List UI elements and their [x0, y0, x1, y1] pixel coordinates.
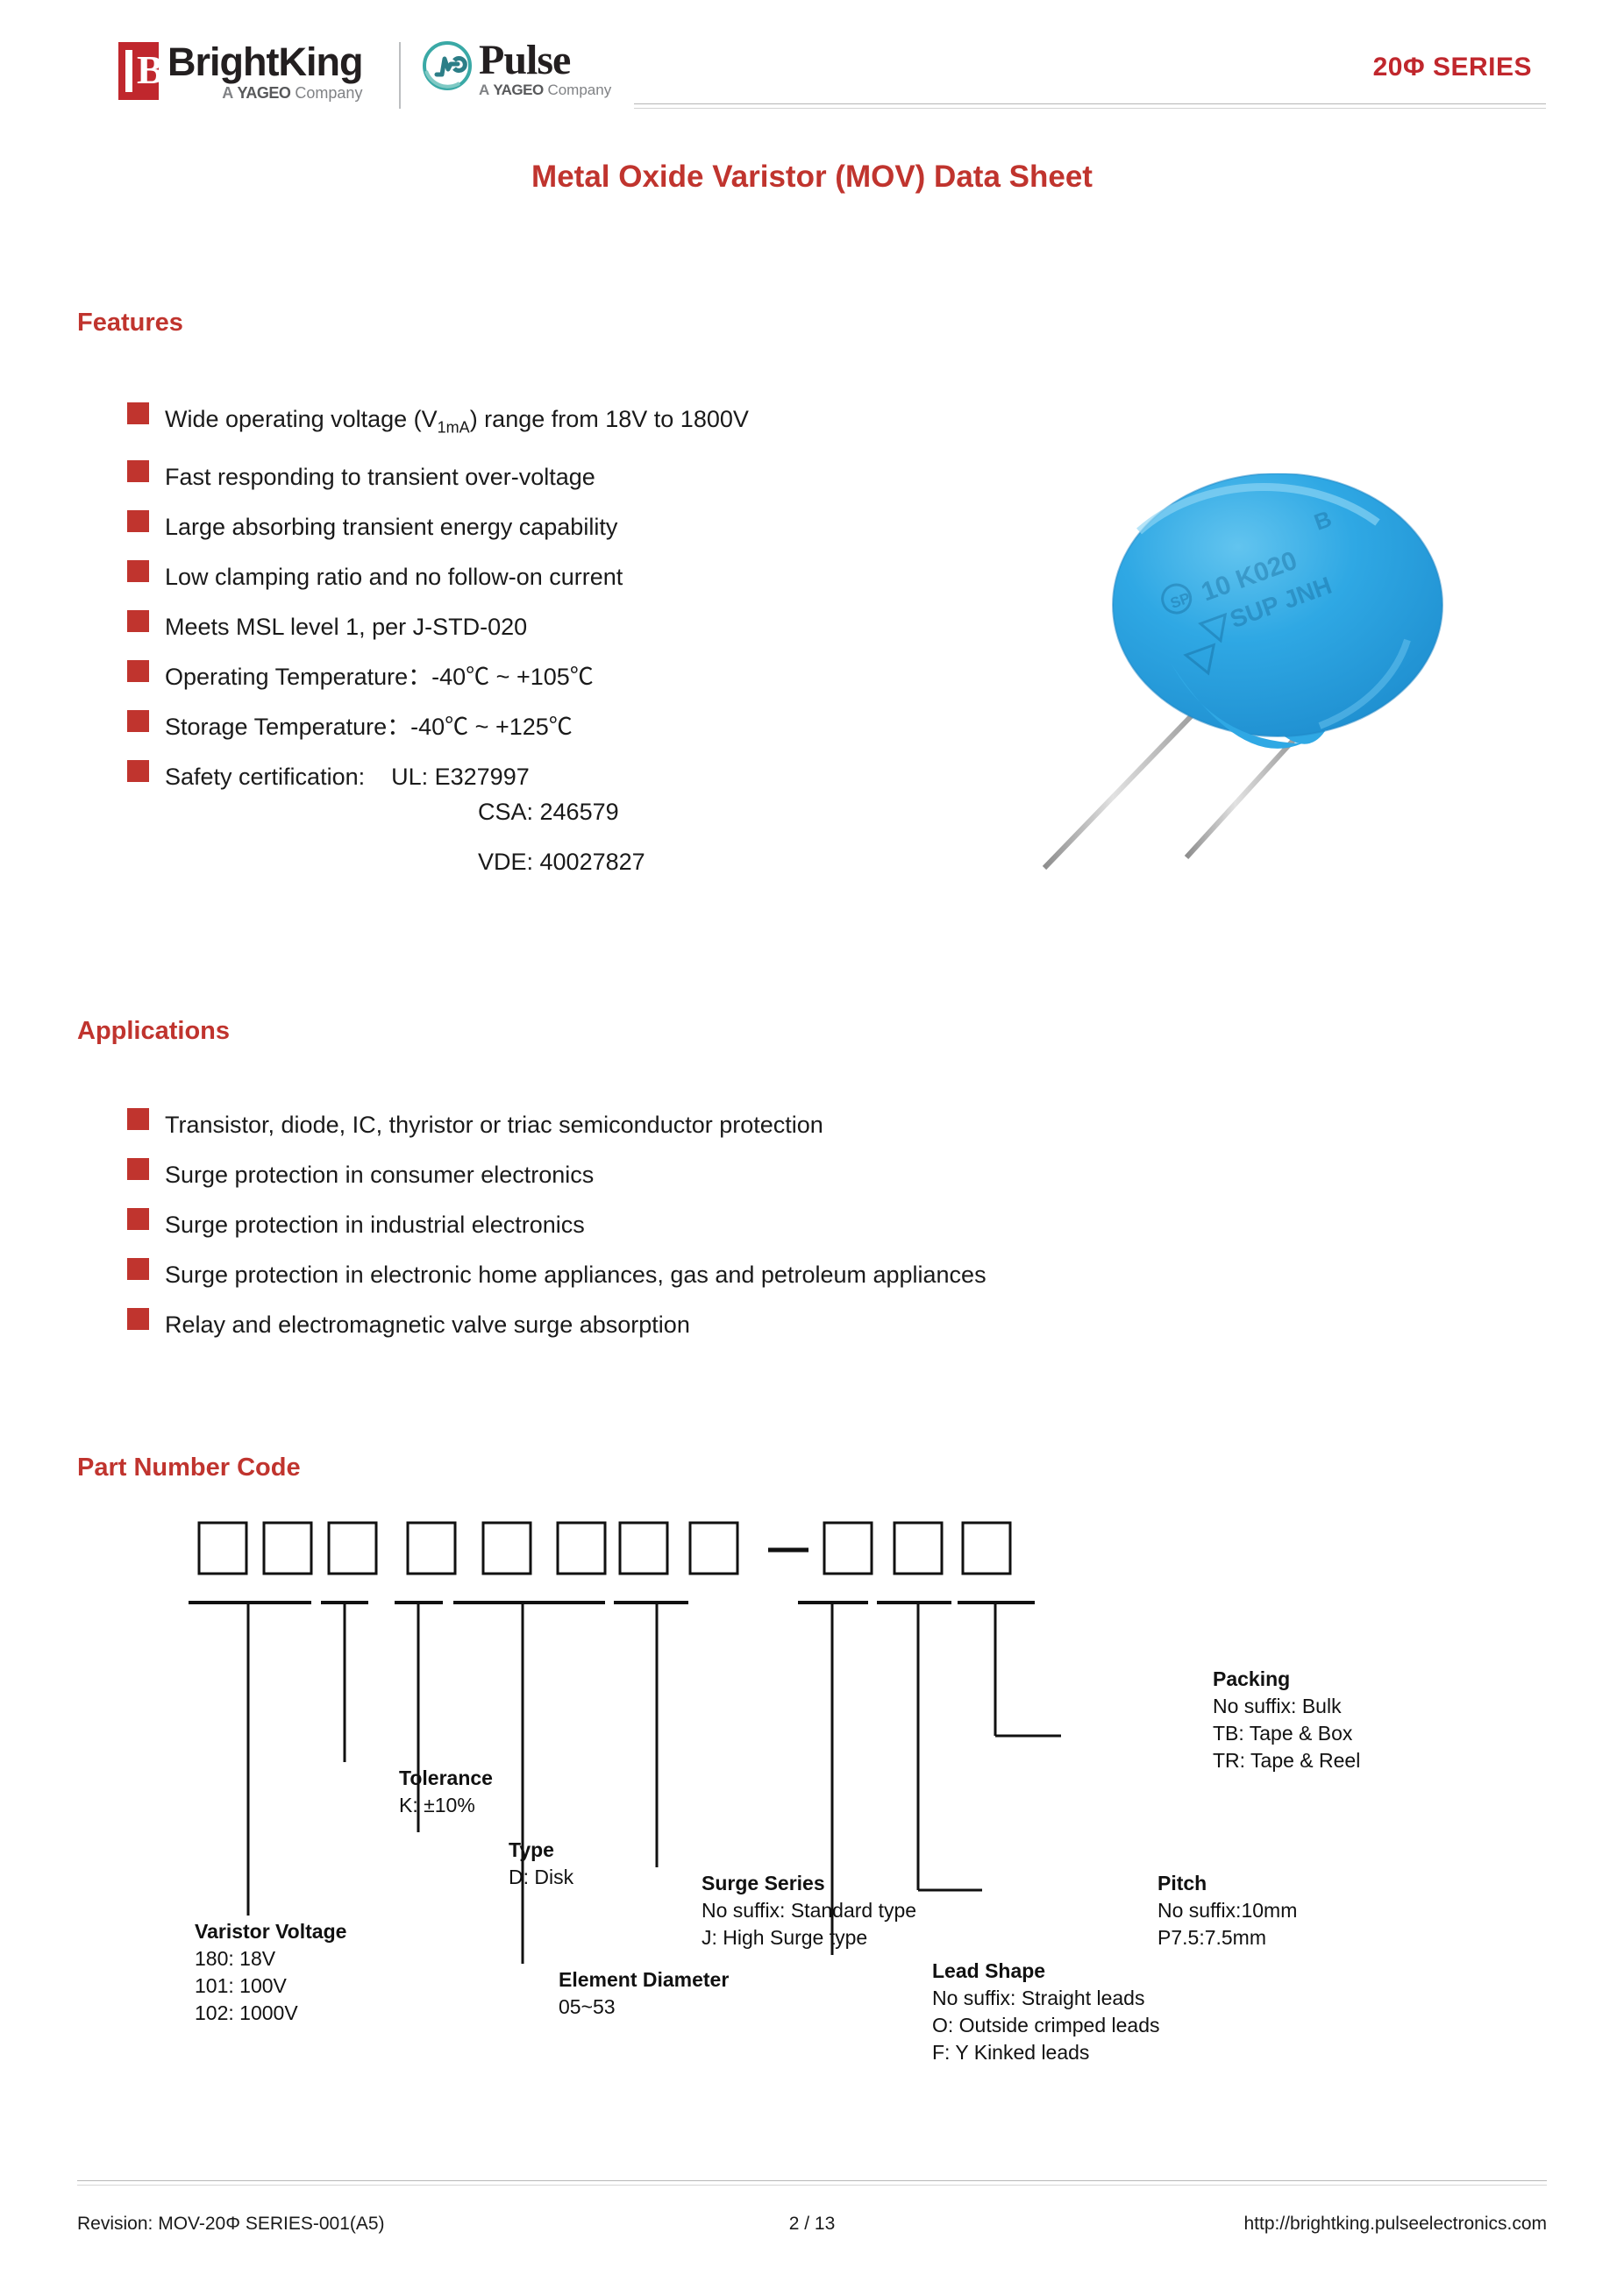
feature-item-label: Fast responding to transient over-voltag… — [165, 452, 595, 502]
feature-item-label: Low clamping ratio and no follow-on curr… — [165, 552, 623, 602]
brightking-tagline-company: Company — [290, 84, 362, 102]
legend-tolerance-title: Tolerance — [399, 1765, 493, 1792]
legend-lead-shape-line: No suffix: Straight leads — [932, 1985, 1160, 2012]
legend-element-diameter: Element Diameter05~53 — [559, 1966, 729, 2021]
brightking-tagline-a: A — [222, 84, 237, 102]
application-item-label: Relay and electromagnetic valve surge ab… — [165, 1300, 690, 1350]
bullet-square-icon — [127, 610, 149, 632]
application-item: Surge protection in consumer electronics — [127, 1150, 987, 1200]
pulse-mark-icon — [421, 39, 474, 92]
bullet-square-icon — [127, 1208, 149, 1230]
legend-pitch-line: No suffix:10mm — [1157, 1897, 1297, 1924]
part-code-box — [199, 1523, 246, 1574]
legend-packing: PackingNo suffix: BulkTB: Tape & BoxTR: … — [1213, 1666, 1360, 1774]
bullet-square-icon — [127, 402, 149, 424]
pulse-tagline-a: A — [479, 82, 493, 98]
pulse-logo: Pulse A YAGEO Company — [421, 39, 611, 99]
part-number-code-heading: Part Number Code — [77, 1454, 301, 1482]
brightking-tagline-brand: YAGEO — [238, 84, 291, 102]
legend-tolerance-line: K: ±10% — [399, 1792, 493, 1819]
features-list: Wide operating voltage (V1mA) range from… — [127, 395, 749, 802]
legend-lead-shape: Lead ShapeNo suffix: Straight leadsO: Ou… — [932, 1958, 1160, 2066]
application-item-label: Surge protection in consumer electronics — [165, 1150, 594, 1200]
safety-certification-line: CSA: 246579 — [478, 787, 645, 837]
legend-lead-shape-line: O: Outside crimped leads — [932, 2012, 1160, 2039]
features-cert-extra: CSA: 246579VDE: 40027827 — [478, 787, 645, 887]
application-item: Transistor, diode, IC, thyristor or tria… — [127, 1100, 987, 1150]
legend-packing-title: Packing — [1213, 1666, 1360, 1693]
feature-item: Operating Temperature：-40℃ ~ +105℃ — [127, 652, 749, 702]
application-item-label: Surge protection in industrial electroni… — [165, 1200, 585, 1250]
legend-varistor-voltage-line: 101: 100V — [195, 1973, 346, 2000]
legend-lead-shape-title: Lead Shape — [932, 1958, 1160, 1985]
application-item: Relay and electromagnetic valve surge ab… — [127, 1300, 987, 1350]
footer-divider — [77, 2180, 1547, 2186]
pulse-tagline-brand: YAGEO — [493, 82, 543, 98]
bullet-square-icon — [127, 460, 149, 482]
application-item-label: Transistor, diode, IC, thyristor or tria… — [165, 1100, 823, 1150]
brightking-logo: B BrightKing A YAGEO Company — [118, 42, 362, 103]
feature-item-label: Safety certification: UL: E327997 — [165, 752, 530, 802]
bullet-square-icon — [127, 560, 149, 582]
bullet-square-icon — [127, 710, 149, 732]
page-title: Metal Oxide Varistor (MOV) Data Sheet — [0, 160, 1624, 195]
part-code-box — [963, 1523, 1010, 1574]
application-item: Surge protection in industrial electroni… — [127, 1200, 987, 1250]
feature-item-label: Storage Temperature：-40℃ ~ +125℃ — [165, 702, 573, 752]
pulse-wordmark: Pulse — [479, 39, 611, 82]
feature-item: Large absorbing transient energy capabil… — [127, 502, 749, 552]
footer-url[interactable]: http://brightking.pulseelectronics.com — [1243, 2214, 1547, 2235]
legend-varistor-voltage: Varistor Voltage180: 18V101: 100V102: 10… — [195, 1918, 346, 2027]
part-code-box — [483, 1523, 531, 1574]
brightking-tagline: A YAGEO Company — [167, 83, 362, 103]
bullet-square-icon — [127, 760, 149, 782]
feature-item: Storage Temperature：-40℃ ~ +125℃ — [127, 702, 749, 752]
pulse-tagline-company: Company — [544, 82, 611, 98]
legend-element-diameter-title: Element Diameter — [559, 1966, 729, 1994]
brightking-mark-letter: B — [137, 50, 152, 92]
part-code-box — [690, 1523, 737, 1574]
legend-varistor-voltage-title: Varistor Voltage — [195, 1918, 346, 1945]
product-photo: 10 K020 SUP JNH SP B — [951, 473, 1530, 894]
part-code-box — [558, 1523, 605, 1574]
feature-item-label: Operating Temperature：-40℃ ~ +105℃ — [165, 652, 594, 702]
legend-type-title: Type — [509, 1837, 573, 1864]
feature-item-label: Meets MSL level 1, per J-STD-020 — [165, 602, 527, 652]
legend-type-line: D: Disk — [509, 1864, 573, 1891]
legend-varistor-voltage-line: 180: 18V — [195, 1945, 346, 1973]
bullet-square-icon — [127, 1158, 149, 1180]
bullet-square-icon — [127, 510, 149, 532]
header-divider — [634, 103, 1546, 109]
legend-type: TypeD: Disk — [509, 1837, 573, 1891]
bullet-square-icon — [127, 1108, 149, 1130]
legend-packing-line: No suffix: Bulk — [1213, 1693, 1360, 1720]
legend-pitch: PitchNo suffix:10mmP7.5:7.5mm — [1157, 1870, 1297, 1951]
legend-varistor-voltage-line: 102: 1000V — [195, 2000, 346, 2027]
legend-pitch-line: P7.5:7.5mm — [1157, 1924, 1297, 1951]
part-code-box — [329, 1523, 376, 1574]
pulse-tagline: A YAGEO Company — [479, 82, 611, 99]
feature-item: Meets MSL level 1, per J-STD-020 — [127, 602, 749, 652]
application-item-label: Surge protection in electronic home appl… — [165, 1250, 987, 1300]
logo-divider — [399, 42, 401, 109]
legend-packing-line: TB: Tape & Box — [1213, 1720, 1360, 1747]
feature-item: Wide operating voltage (V1mA) range from… — [127, 395, 749, 452]
legend-pitch-title: Pitch — [1157, 1870, 1297, 1897]
bullet-square-icon — [127, 1258, 149, 1280]
datasheet-page: B BrightKing A YAGEO Company Pulse A YAG… — [0, 0, 1624, 2296]
series-label: 20Φ SERIES — [1373, 53, 1532, 82]
applications-heading: Applications — [77, 1017, 230, 1046]
part-code-box — [408, 1523, 455, 1574]
applications-list: Transistor, diode, IC, thyristor or tria… — [127, 1100, 987, 1350]
application-item: Surge protection in electronic home appl… — [127, 1250, 987, 1300]
feature-item-label: Wide operating voltage (V1mA) range from… — [165, 395, 749, 452]
bullet-square-icon — [127, 1308, 149, 1330]
legend-surge-series: Surge SeriesNo suffix: Standard typeJ: H… — [702, 1870, 916, 1951]
legend-tolerance: ToleranceK: ±10% — [399, 1765, 493, 1819]
legend-surge-series-title: Surge Series — [702, 1870, 916, 1897]
legend-lead-shape-line: F: Y Kinked leads — [932, 2039, 1160, 2066]
feature-item: Low clamping ratio and no follow-on curr… — [127, 552, 749, 602]
feature-item: Safety certification: UL: E327997 — [127, 752, 749, 802]
brightking-wordmark: BrightKing — [167, 42, 362, 82]
part-code-box — [894, 1523, 942, 1574]
legend-element-diameter-line: 05~53 — [559, 1994, 729, 2021]
safety-certification-line: VDE: 40027827 — [478, 837, 645, 887]
page-header: B BrightKing A YAGEO Company Pulse A YAG… — [0, 0, 1624, 132]
feature-item-label: Large absorbing transient energy capabil… — [165, 502, 617, 552]
bullet-square-icon — [127, 660, 149, 682]
legend-surge-series-line: No suffix: Standard type — [702, 1897, 916, 1924]
legend-packing-line: TR: Tape & Reel — [1213, 1747, 1360, 1774]
brightking-mark-icon: B — [118, 42, 159, 100]
part-code-box — [264, 1523, 311, 1574]
part-code-box — [824, 1523, 872, 1574]
features-heading: Features — [77, 309, 183, 338]
feature-item: Fast responding to transient over-voltag… — [127, 452, 749, 502]
part-code-box — [620, 1523, 667, 1574]
legend-surge-series-line: J: High Surge type — [702, 1924, 916, 1951]
